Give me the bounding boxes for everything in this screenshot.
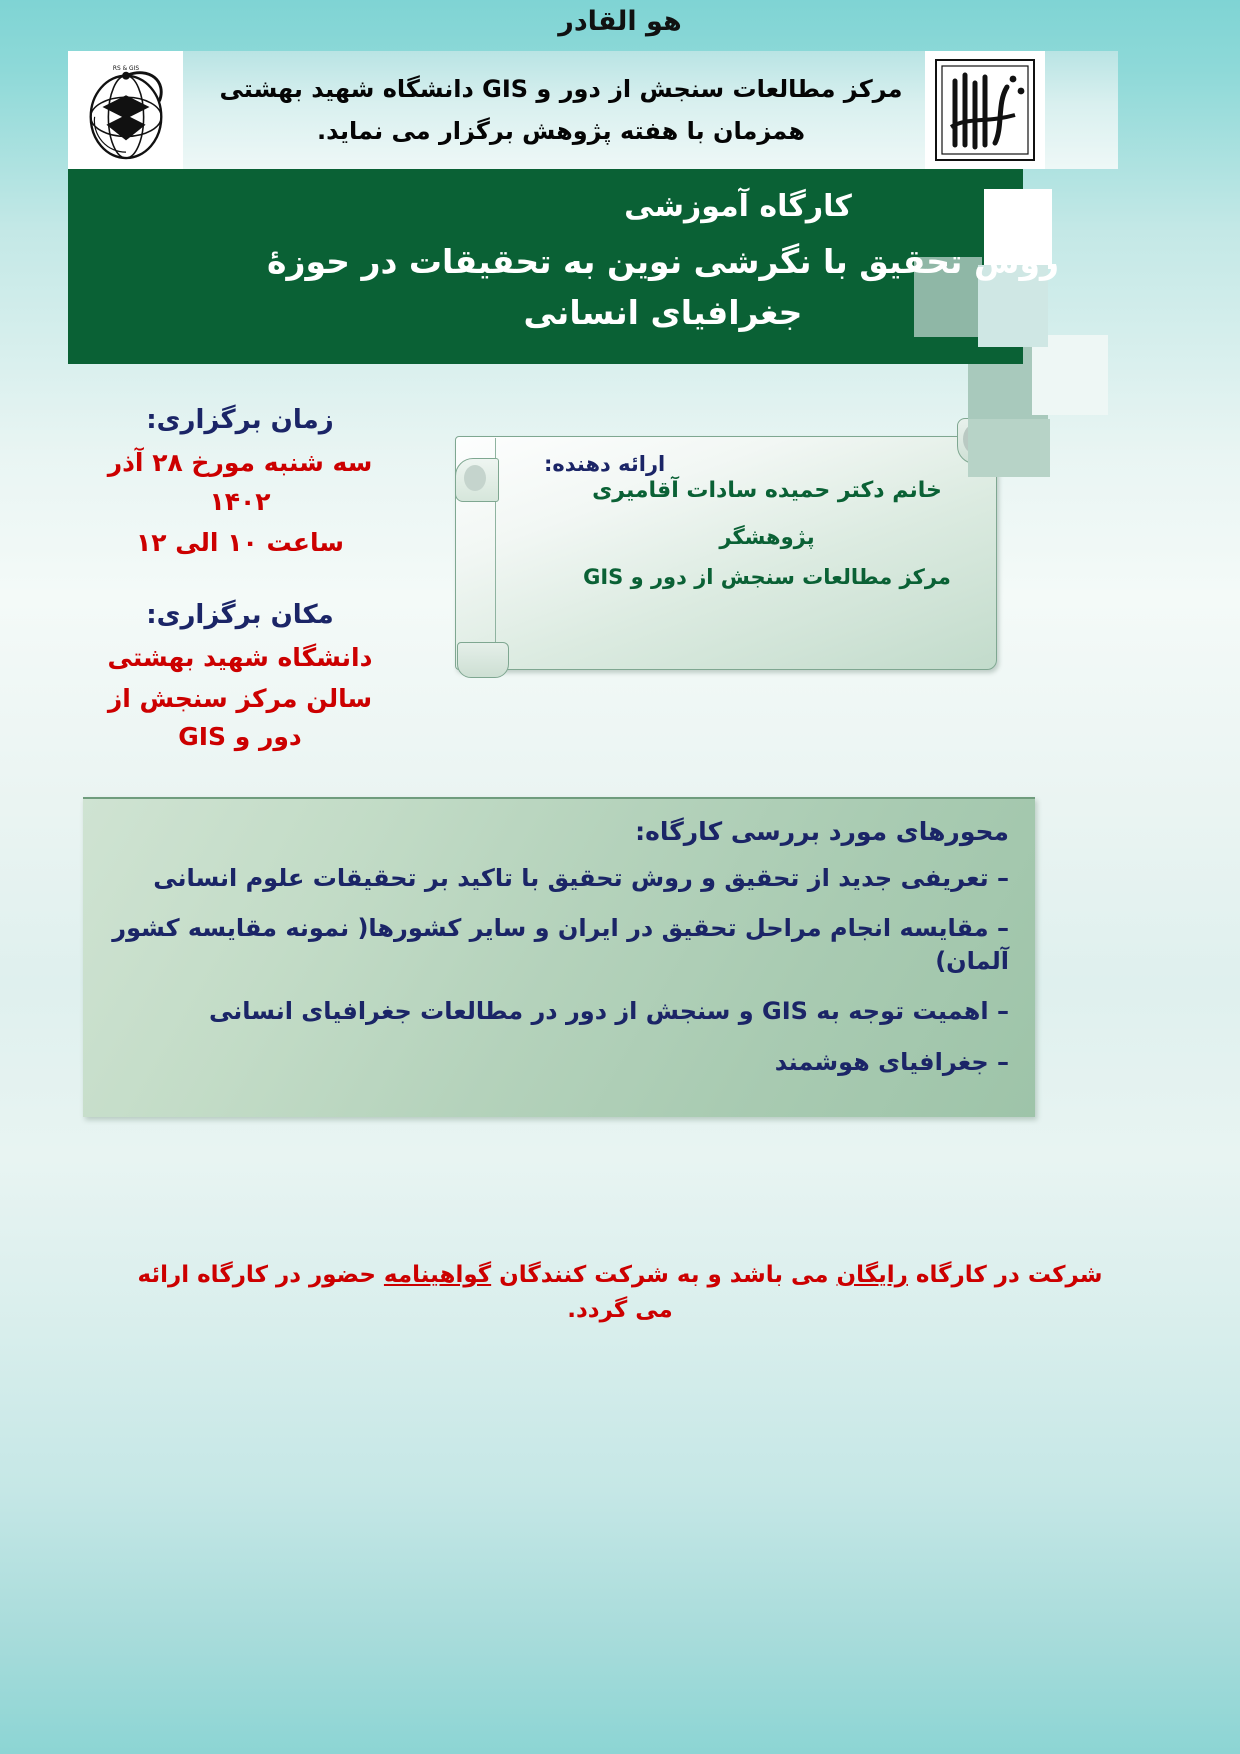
banner-title-line-1: روش تحقیق با نگرشی نوین به تحقیقات در حو… <box>208 236 1108 287</box>
schedule-block: زمان برگزاری: سه شنبه مورخ ۲۸ آذر ۱۴۰۲ س… <box>90 400 390 759</box>
venue-line-1: دانشگاه شهید بهشتی <box>90 639 390 678</box>
venue-line-2: سالن مرکز سنجش از دور و GIS <box>90 680 390 758</box>
schedule-spacer <box>90 565 390 595</box>
topic-item: – جغرافیای هوشمند <box>109 1046 1009 1078</box>
shahid-beheshti-university-logo-box <box>925 51 1045 169</box>
venue-label: مکان برگزاری: <box>90 595 390 635</box>
rs-gis-society-logo-box: RS & GIS <box>68 51 183 169</box>
footer-part-2: می باشد و به شرکت کنندگان <box>491 1262 836 1288</box>
footer-part-1: شرکت در کارگاه <box>908 1262 1103 1288</box>
workshop-title-banner: کارگاه آموزشی روش تحقیق با نگرشی نوین به… <box>68 169 1118 364</box>
presenter-role: پژوهشگر <box>532 525 1002 549</box>
banner-kicker: کارگاه آموزشی <box>208 189 1108 224</box>
svg-text:RS & GIS: RS & GIS <box>112 66 138 72</box>
organizer-statement: مرکز مطالعات سنجش از دور و GIS دانشگاه ش… <box>190 55 932 165</box>
time-label: زمان برگزاری: <box>90 400 390 440</box>
scroll-curl-left-icon <box>455 458 499 502</box>
presenter-info: ارائه دهنده: خانم دکتر حمیده سادات آقامی… <box>532 452 1002 589</box>
presenter-affiliation: مرکز مطالعات سنجش از دور و GIS <box>532 565 1002 589</box>
shahid-beheshti-university-logo-icon <box>933 57 1037 163</box>
topic-item: – تعریفی جدید از تحقیق و روش تحقیق با تا… <box>109 862 1009 894</box>
workshop-topics-box: محورهای مورد بررسی کارگاه: – تعریفی جدید… <box>83 797 1035 1117</box>
registration-note: شرکت در کارگاه رایگان می باشد و به شرکت … <box>0 1258 1240 1327</box>
banner-text-block: کارگاه آموزشی روش تحقیق با نگرشی نوین به… <box>208 175 1108 338</box>
decor-square-8 <box>968 419 1050 477</box>
presenter-scroll-panel: ارائه دهنده: خانم دکتر حمیده سادات آقامی… <box>455 418 1020 683</box>
decor-square-7 <box>1032 335 1108 415</box>
topic-item: – مقایسه انجام مراحل تحقیق در ایران و سا… <box>109 912 1009 977</box>
event-date: سه شنبه مورخ ۲۸ آذر ۱۴۰۲ <box>90 444 390 522</box>
bismillah-line: هو القادر <box>0 6 1240 37</box>
iranian-rs-and-gis-society-logo-icon: RS & GIS <box>77 56 175 164</box>
topic-item: – اهمیت توجه به GIS و سنجش از دور در مطا… <box>109 995 1009 1027</box>
scroll-curl-bottom-icon <box>457 642 509 678</box>
presenter-label: ارائه دهنده: <box>532 452 1002 476</box>
banner-title-line-2: جغرافیای انسانی <box>208 287 1108 338</box>
presenter-name: خانم دکتر حمیده سادات آقامیری <box>532 478 1002 503</box>
footer-certificate-word: گواهینامه <box>384 1262 491 1288</box>
footer-free-word: رایگان <box>837 1262 908 1288</box>
event-hours: ساعت ۱۰ الی ۱۲ <box>90 524 390 563</box>
topics-title: محورهای مورد بررسی کارگاه: <box>109 817 1009 846</box>
scroll-knob-left <box>464 465 486 491</box>
